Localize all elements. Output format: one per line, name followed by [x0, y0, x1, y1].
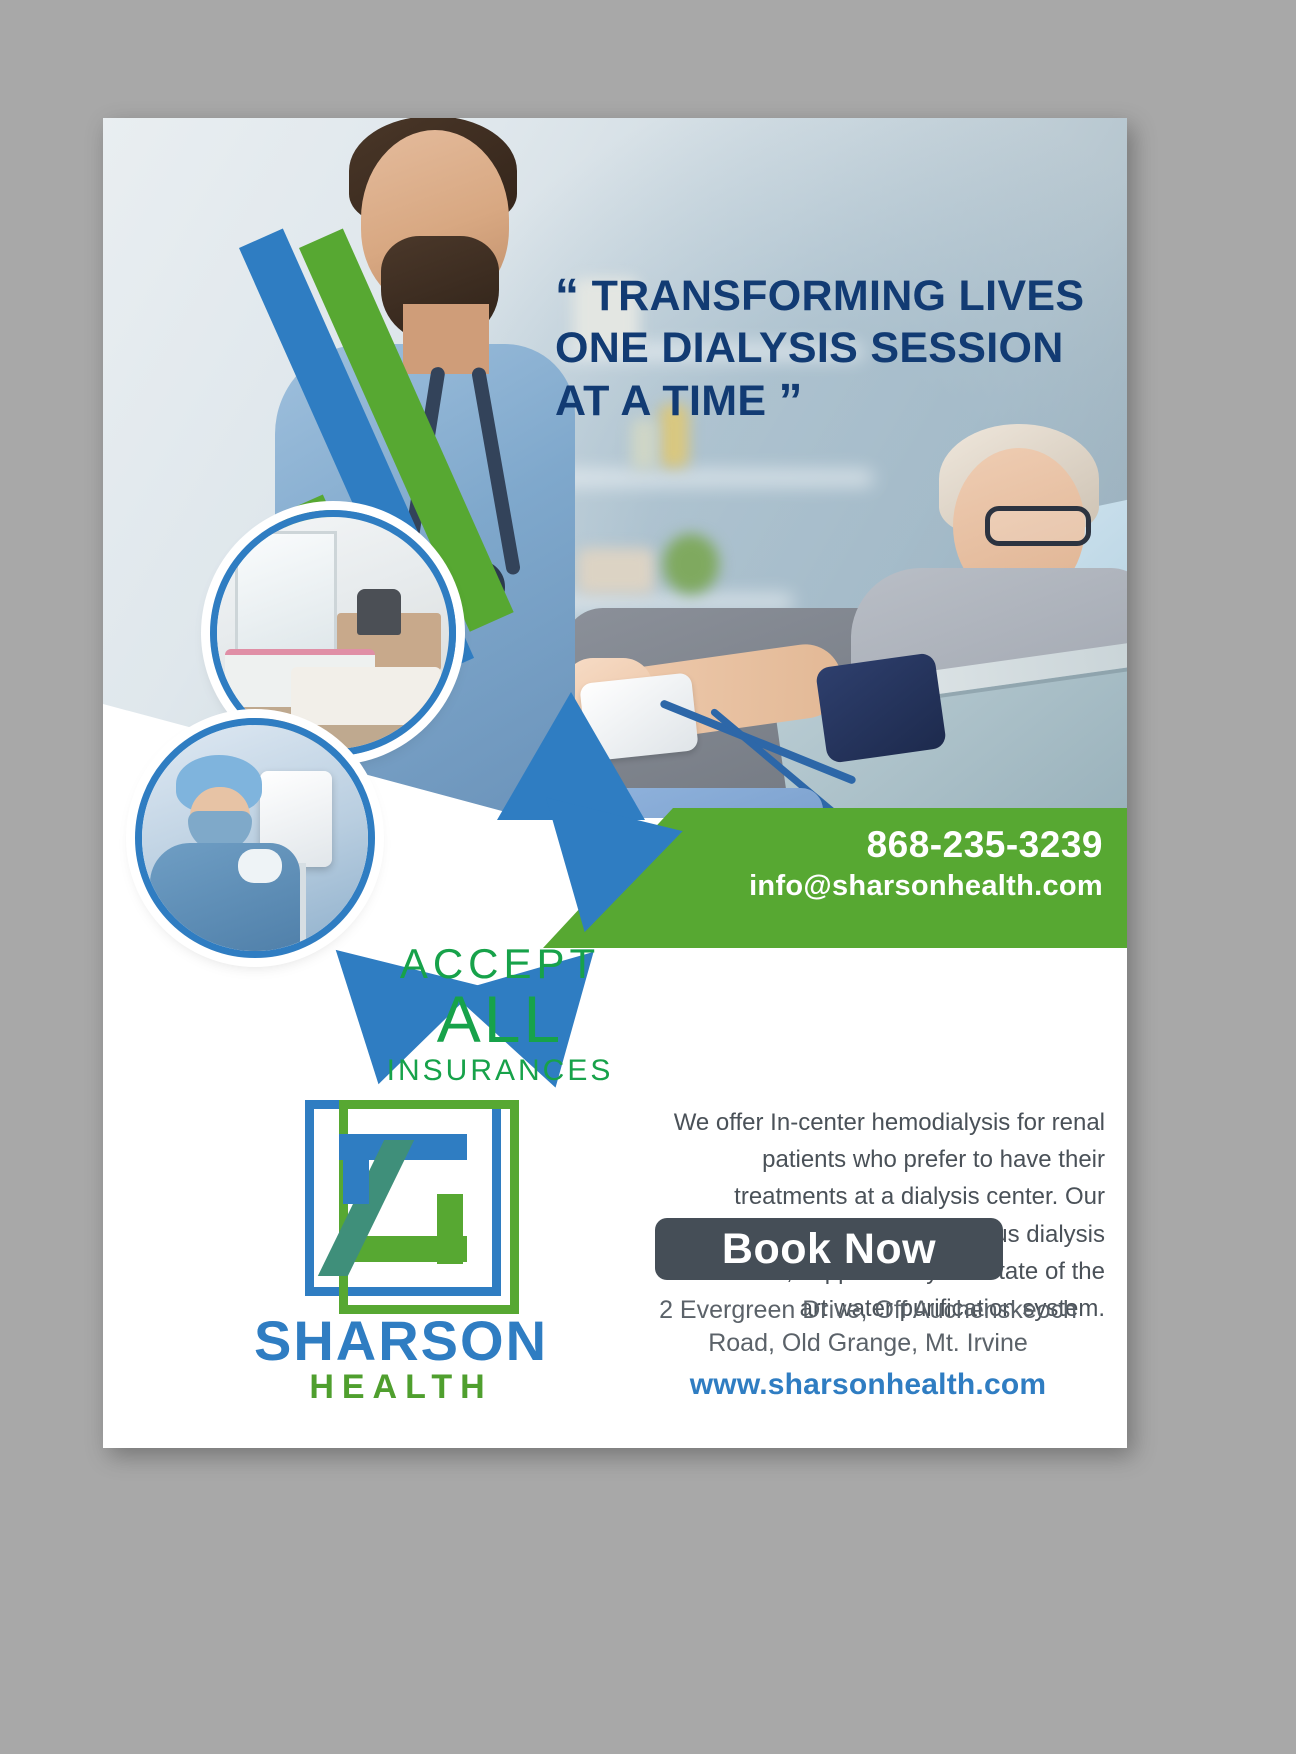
address-block: 2 Evergreen Drive, Off Auchenskeoch Road… [631, 1294, 1105, 1360]
address-line-2: Road, Old Grange, Mt. Irvine [631, 1327, 1105, 1360]
logo-s-stem-right [437, 1194, 463, 1264]
email-address[interactable]: info@sharsonhealth.com [749, 870, 1103, 903]
logo-subtitle: HEALTH [229, 1368, 573, 1407]
close-quote-glyph: ” [779, 375, 803, 428]
screenshot-canvas: “ TRANSFORMING LIVES ONE DIALYSIS SESSIO… [0, 0, 1296, 1754]
open-quote-glyph: “ [555, 270, 579, 323]
clinician-image [142, 725, 368, 951]
blood-pressure-cuff-icon [815, 652, 947, 764]
headline-line-1: TRANSFORMING LIVES [592, 272, 1085, 320]
headline-line-3: AT A TIME [555, 377, 766, 425]
insurance-callout: ACCEPT ALL INSURANCES [355, 940, 645, 1088]
hospital-bed-shape-2 [291, 667, 441, 725]
patient-room-image [217, 517, 449, 749]
insurance-line-2: ALL [355, 986, 645, 1052]
logo-mark-icon [305, 1100, 501, 1296]
address-line-1: 2 Evergreen Drive, Off Auchenskeoch [631, 1294, 1105, 1327]
logo-wordmark: SHARSON [229, 1308, 573, 1373]
logo-s-stem-left [343, 1134, 369, 1204]
brand-logo: SHARSON HEALTH [251, 1100, 551, 1390]
flyer-poster: “ TRANSFORMING LIVES ONE DIALYSIS SESSIO… [103, 118, 1127, 1448]
website-url[interactable]: www.sharsonhealth.com [631, 1368, 1105, 1402]
circle-photo-clinician [135, 718, 375, 958]
nurse-neck-shape [403, 304, 489, 374]
window-shape [235, 531, 337, 657]
glove-shape [238, 849, 282, 883]
insurance-line-1: ACCEPT [355, 940, 645, 988]
patient-glasses-icon [985, 506, 1091, 546]
phone-number[interactable]: 868-235-3239 [867, 824, 1103, 866]
insurance-line-3: INSURANCES [355, 1054, 645, 1088]
book-now-button[interactable]: Book Now [655, 1218, 1003, 1280]
chair-shape [357, 589, 401, 635]
page-title: “ TRANSFORMING LIVES ONE DIALYSIS SESSIO… [555, 270, 1115, 427]
headline-line-2: ONE DIALYSIS SESSION [555, 324, 1064, 372]
